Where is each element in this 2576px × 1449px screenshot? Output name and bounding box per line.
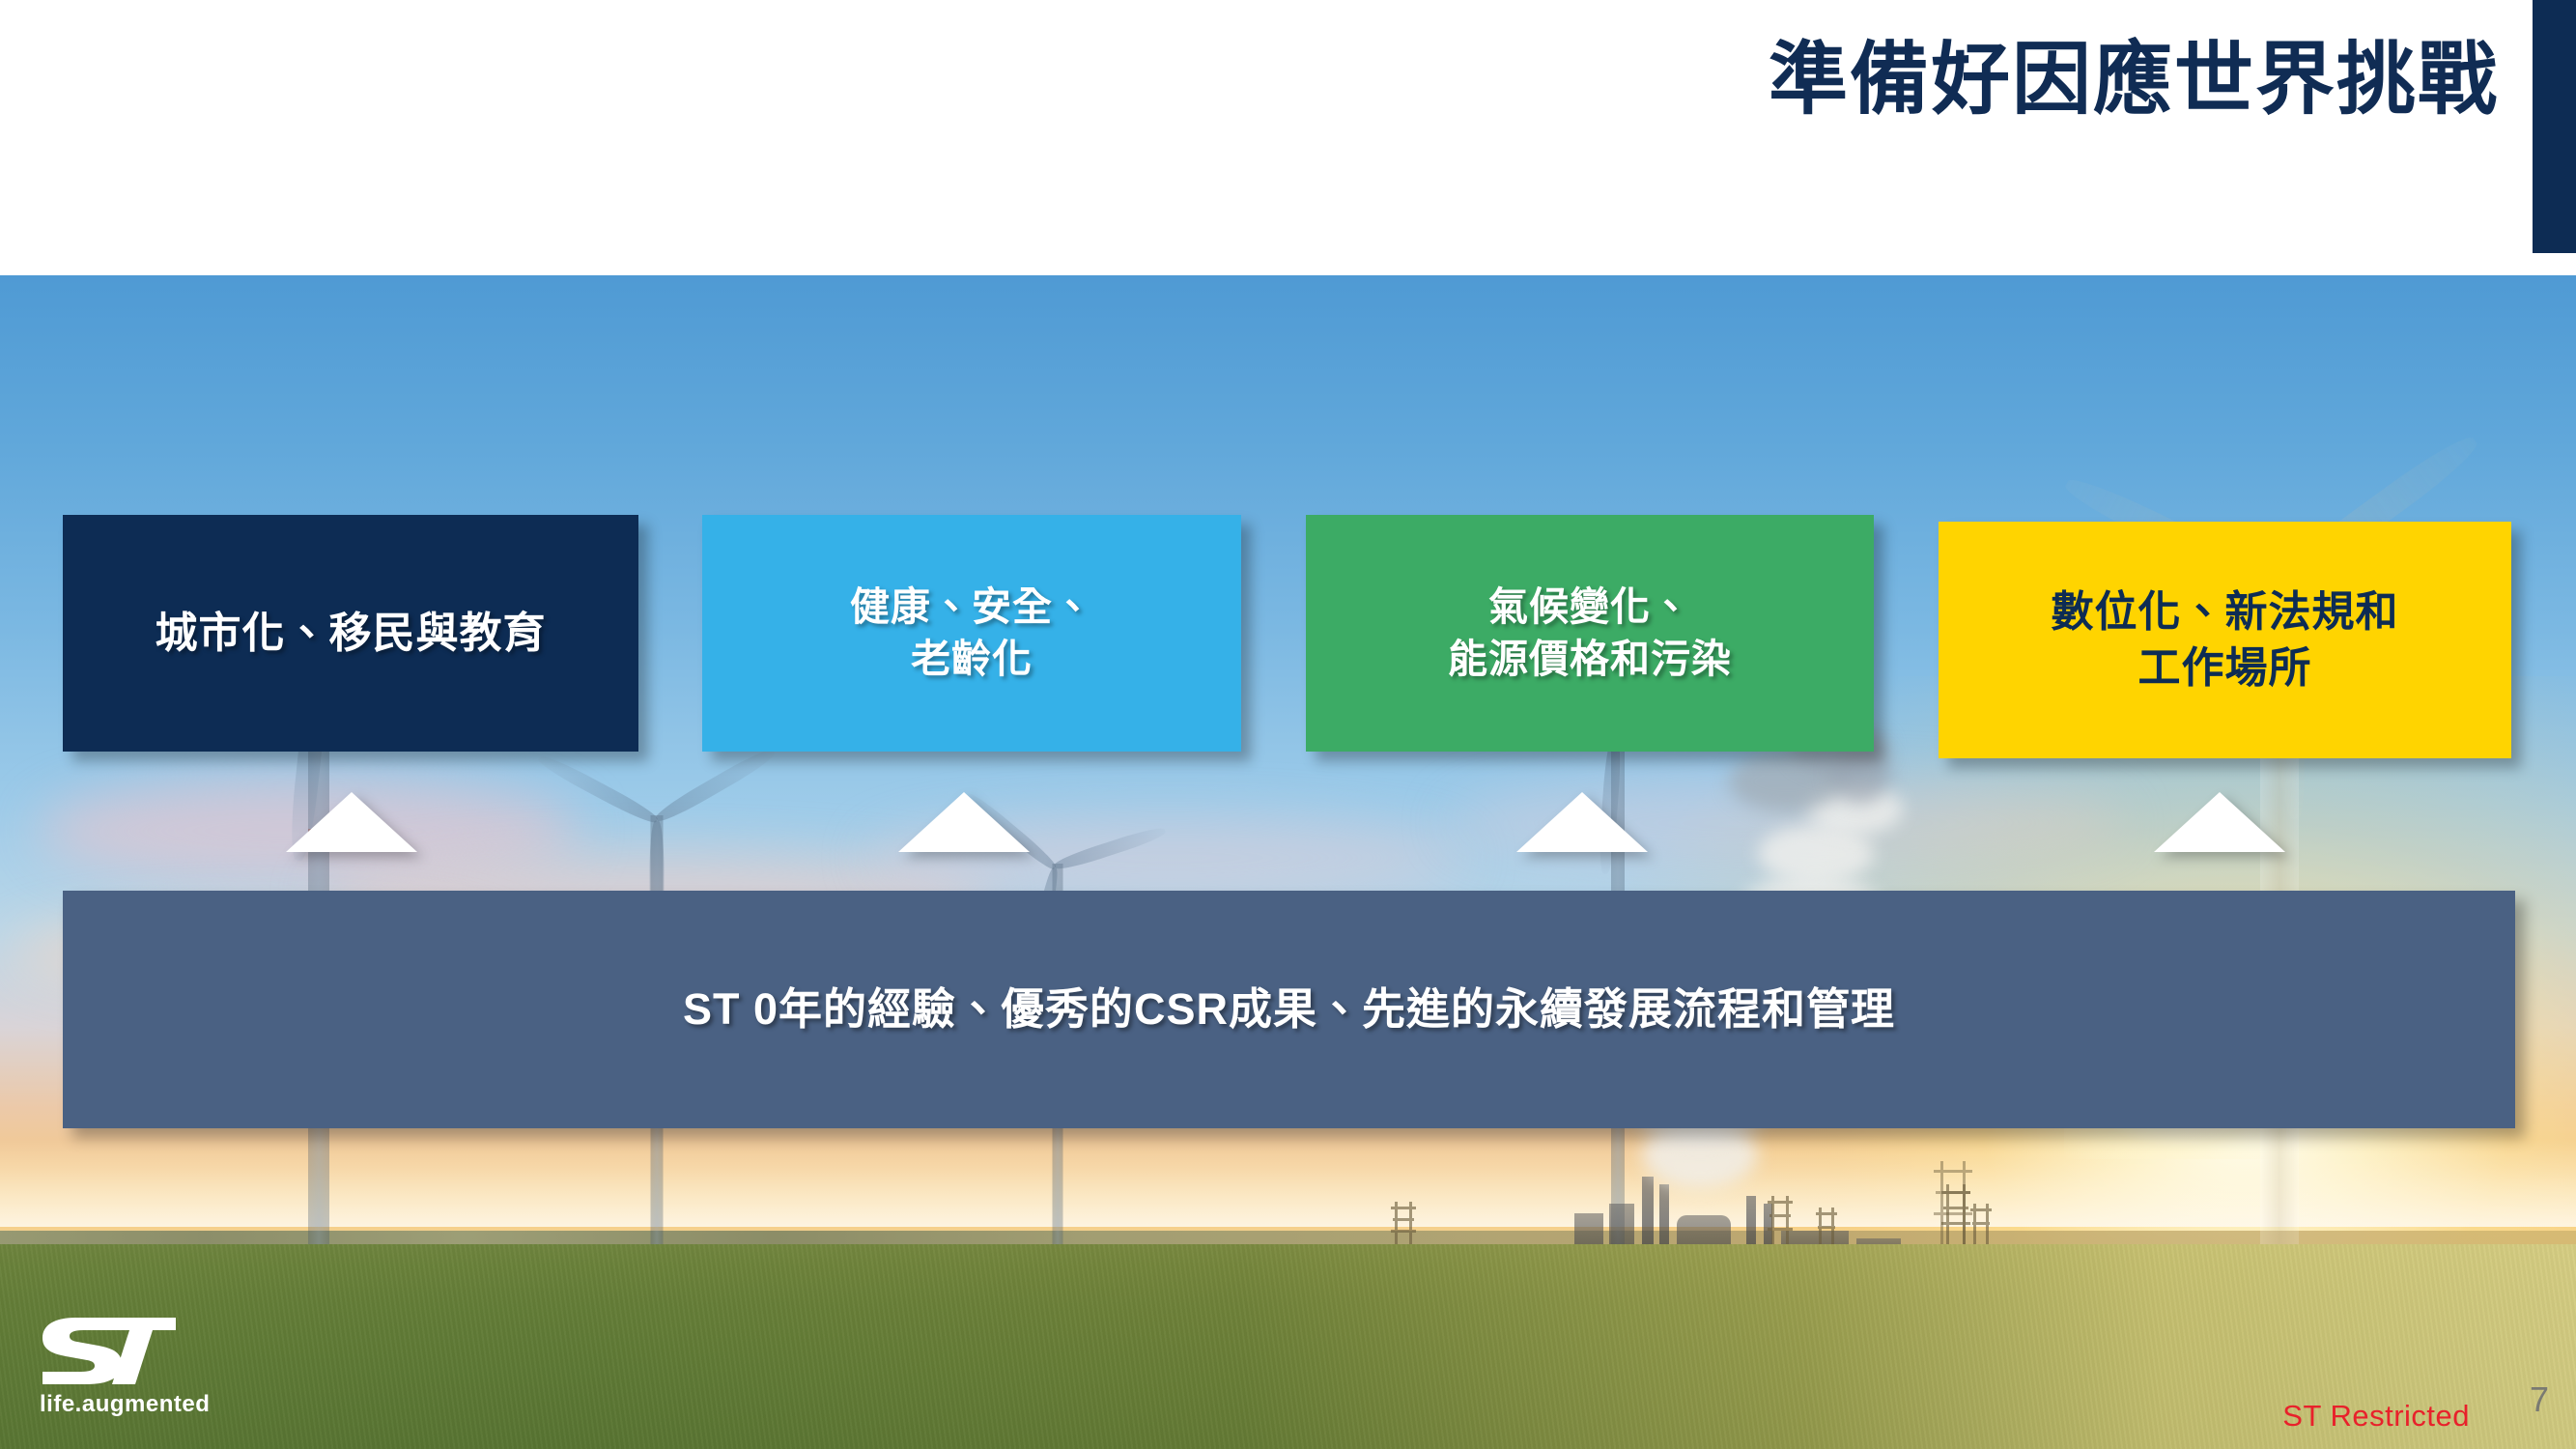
arrow-up-icon <box>286 792 417 852</box>
page-number: 7 <box>2530 1379 2549 1420</box>
background-photo <box>0 275 2576 1449</box>
arrow-up-icon <box>898 792 1030 852</box>
st-logo-tagline: life.augmented <box>40 1391 220 1418</box>
category-box-urbanization[interactable]: 城市化、移民與教育 <box>63 515 638 752</box>
category-label: 氣候變化、 能源價格和污染 <box>1448 582 1732 685</box>
header-accent-bar <box>2533 0 2576 253</box>
page-title: 準備好因應世界挑戰 <box>1769 35 2499 126</box>
category-box-digitalization[interactable]: 數位化、新法規和 工作場所 <box>1939 522 2511 758</box>
category-box-health[interactable]: 健康、安全、 老齡化 <box>702 515 1241 752</box>
foundation-banner: ST 0年的經驗、優秀的CSR成果、先進的永續發展流程和管理 <box>63 891 2515 1128</box>
st-logo: life.augmented <box>37 1312 220 1428</box>
classification-label: ST Restricted <box>2282 1399 2470 1434</box>
foundation-banner-text: ST 0年的經驗、優秀的CSR成果、先進的永續發展流程和管理 <box>683 981 1895 1038</box>
slide: 準備好因應世界挑戰 <box>0 0 2576 1449</box>
arrow-up-icon <box>1516 792 1648 852</box>
arrow-up-icon <box>2154 792 2285 852</box>
category-label: 城市化、移民與教育 <box>156 606 547 661</box>
category-label: 健康、安全、 老齡化 <box>850 582 1093 685</box>
st-logo-mark <box>37 1312 182 1389</box>
category-box-climate[interactable]: 氣候變化、 能源價格和污染 <box>1306 515 1874 752</box>
slide-header: 準備好因應世界挑戰 <box>0 0 2576 275</box>
category-label: 數位化、新法規和 工作場所 <box>2052 584 2399 695</box>
green-field <box>0 1244 2576 1449</box>
